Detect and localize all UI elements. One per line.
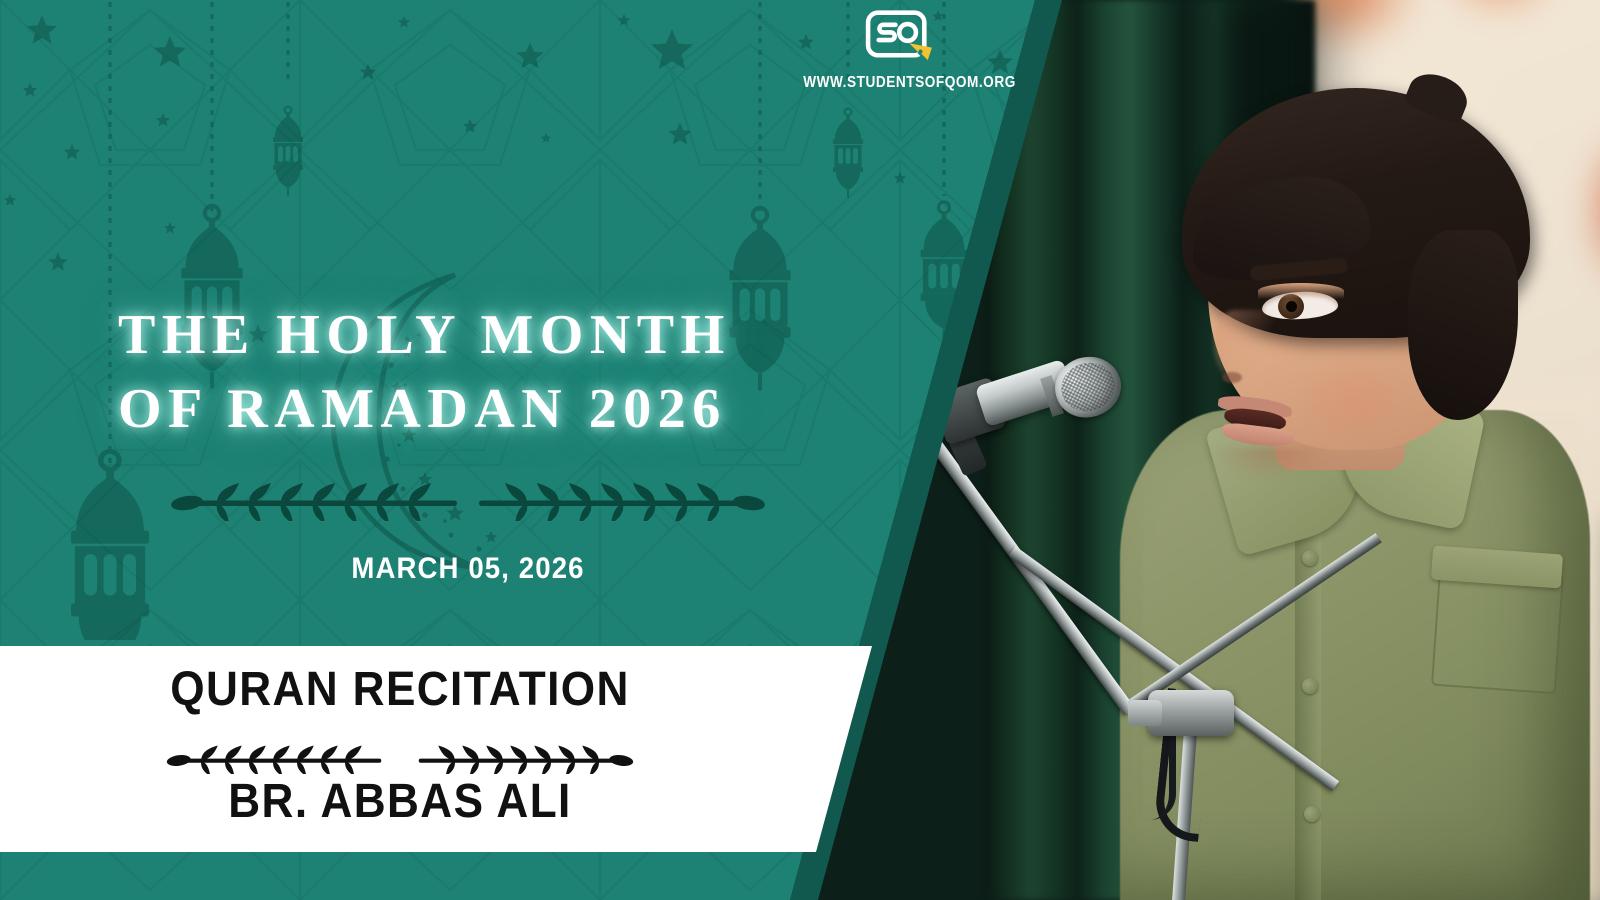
title-line-1: THE HOLY MONTH — [118, 298, 818, 372]
event-title: THE HOLY MONTH OF RAMADAN 2026 — [118, 298, 818, 447]
event-date: MARCH 05, 2026 — [146, 552, 790, 586]
eyelid — [1258, 283, 1344, 299]
shirt-button — [1302, 678, 1318, 694]
cheek-highlight — [1300, 360, 1410, 440]
vine-arrow-left-icon — [475, 481, 765, 521]
brand-logo-block[interactable]: WWW.STUDENTSOFQOM.ORG — [790, 8, 1010, 100]
mic-stand-knob — [1128, 700, 1162, 726]
vine-divider-top — [118, 478, 818, 524]
website-url[interactable]: WWW.STUDENTSOFQOM.ORG — [803, 74, 997, 92]
shirt-button — [1302, 550, 1318, 566]
hair-side — [1408, 230, 1518, 420]
nostril — [1222, 372, 1242, 383]
pupil — [1286, 301, 1297, 312]
vine-arrow-right-icon — [171, 481, 461, 521]
shirt-button — [1304, 806, 1320, 822]
vine-arrow-left-icon — [407, 744, 642, 774]
chin-shadow — [1210, 448, 1330, 482]
vine-arrow-right-icon — [158, 744, 393, 774]
slide-canvas: WWW.STUDENTSOFQOM.ORG THE HOLY MONTH OF … — [0, 0, 1600, 900]
reciter-name: BR. ABBAS ALI — [32, 774, 768, 829]
info-panel: QURAN RECITATION — [0, 646, 900, 852]
title-line-2: OF RAMADAN 2026 — [118, 372, 818, 446]
program-subject: QURAN RECITATION — [32, 662, 768, 717]
sq-pen-nib-logo — [862, 8, 938, 66]
vine-divider-bottom — [0, 742, 800, 776]
